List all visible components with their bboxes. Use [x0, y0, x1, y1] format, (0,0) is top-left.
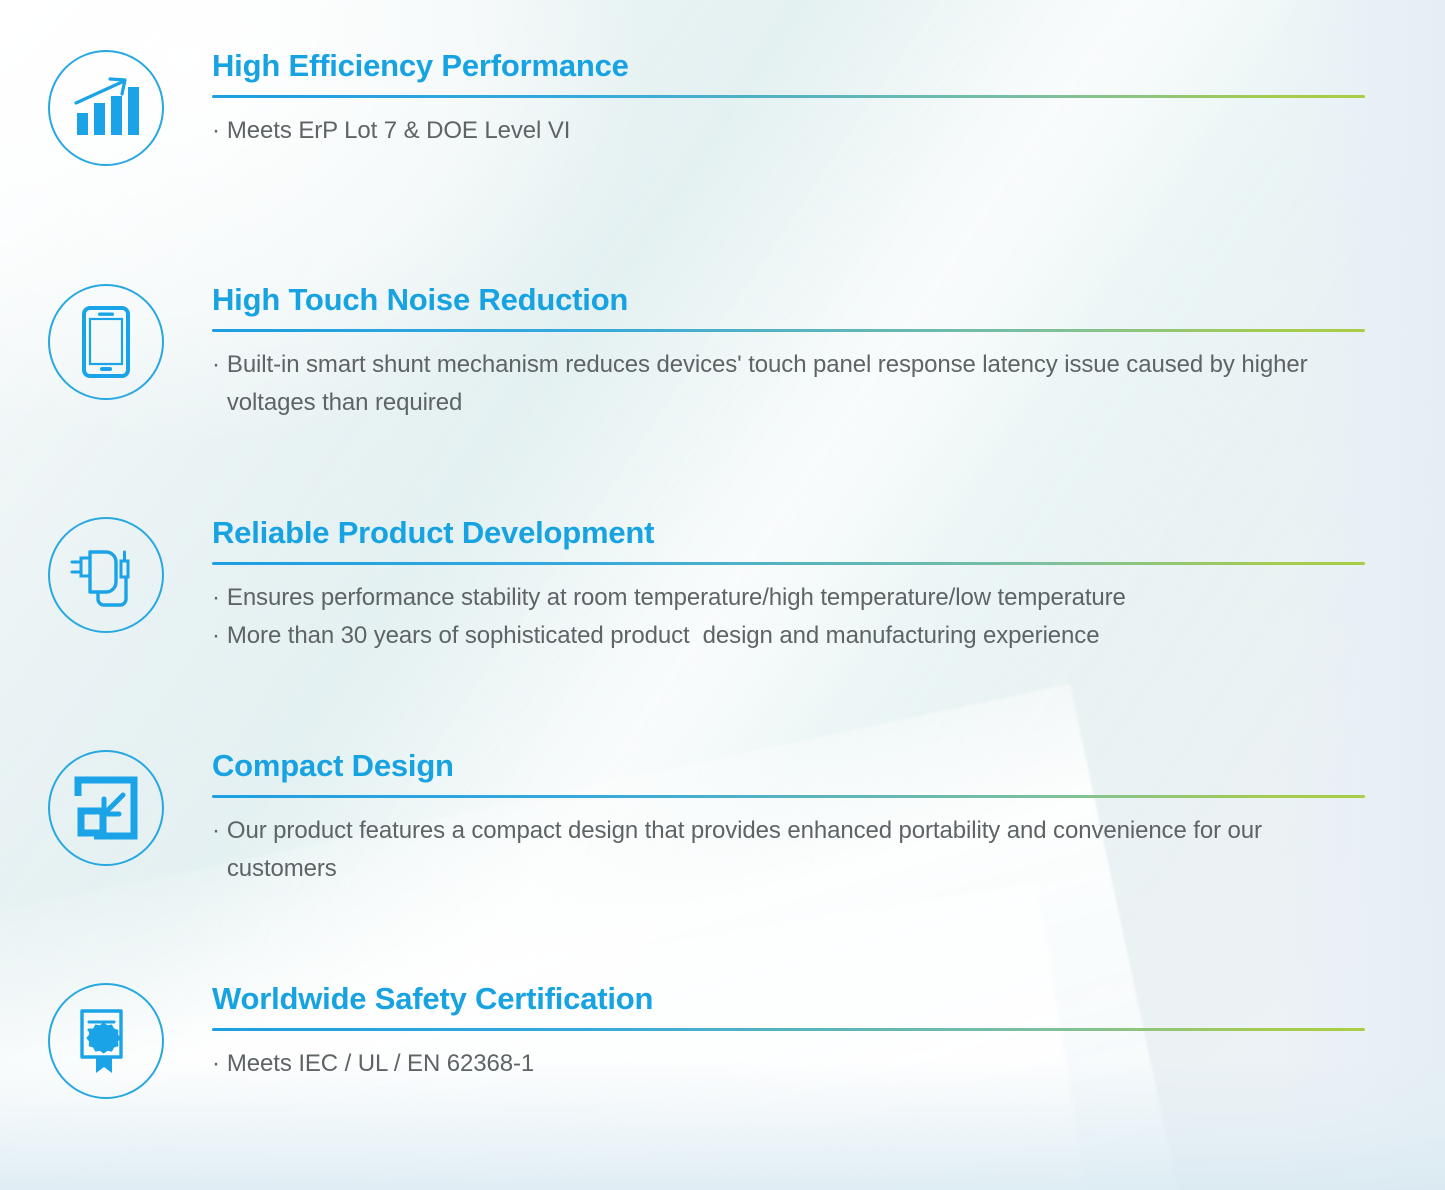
smartphone-icon	[82, 306, 130, 378]
feature-title: Reliable Product Development	[212, 517, 1365, 550]
bullet-text: Ensures performance stability at room te…	[227, 579, 1365, 617]
feature-item-worldwide-safety-certification: Worldwide Safety Certification · Meets I…	[0, 983, 1445, 1099]
feature-title: High Touch Noise Reduction	[212, 284, 1365, 317]
list-item: · Built-in smart shunt mechanism reduces…	[212, 346, 1365, 423]
bullet-marker: ·	[212, 617, 220, 655]
feature-bullets: · Ensures performance stability at room …	[212, 579, 1365, 656]
icon-circle	[48, 983, 164, 1099]
feature-icon-container	[0, 983, 212, 1099]
certificate-badge-icon	[74, 1007, 138, 1075]
list-item: · Ensures performance stability at room …	[212, 579, 1365, 617]
bullet-text: Our product features a compact design th…	[227, 812, 1365, 889]
icon-circle	[48, 50, 164, 166]
feature-icon-container	[0, 284, 212, 400]
feature-icon-container	[0, 517, 212, 633]
bullet-text: Built-in smart shunt mechanism reduces d…	[227, 346, 1365, 423]
list-item: · Our product features a compact design …	[212, 812, 1365, 889]
icon-circle	[48, 284, 164, 400]
feature-item-high-touch-noise-reduction: High Touch Noise Reduction · Built-in sm…	[0, 284, 1445, 422]
bullet-marker: ·	[212, 579, 220, 617]
feature-divider	[212, 95, 1365, 98]
feature-item-high-efficiency-performance: High Efficiency Performance · Meets ErP …	[0, 50, 1445, 166]
list-item: · More than 30 years of sophisticated pr…	[212, 617, 1365, 655]
feature-divider	[212, 562, 1365, 565]
feature-list-page: High Efficiency Performance · Meets ErP …	[0, 0, 1445, 1190]
list-item: · Meets ErP Lot 7 & DOE Level VI	[212, 112, 1365, 150]
feature-divider	[212, 1028, 1365, 1031]
bullet-text: Meets ErP Lot 7 & DOE Level VI	[227, 112, 1365, 150]
compact-resize-icon	[73, 775, 139, 841]
bullet-marker: ·	[212, 812, 220, 850]
bar-chart-growth-icon	[72, 75, 140, 141]
icon-circle	[48, 517, 164, 633]
bullet-text: More than 30 years of sophisticated prod…	[227, 617, 1365, 655]
feature-title: High Efficiency Performance	[212, 50, 1365, 83]
feature-text-column: Worldwide Safety Certification · Meets I…	[212, 983, 1445, 1083]
list-item: · Meets IEC / UL / EN 62368-1	[212, 1045, 1365, 1083]
bullet-marker: ·	[212, 346, 220, 384]
feature-icon-container	[0, 50, 212, 166]
feature-divider	[212, 795, 1365, 798]
feature-bullets: · Meets IEC / UL / EN 62368-1	[212, 1045, 1365, 1083]
feature-icon-container	[0, 750, 212, 866]
feature-list: High Efficiency Performance · Meets ErP …	[0, 0, 1445, 1190]
feature-title: Compact Design	[212, 750, 1365, 783]
bullet-marker: ·	[212, 1045, 220, 1083]
feature-text-column: Reliable Product Development · Ensures p…	[212, 517, 1445, 655]
feature-bullets: · Our product features a compact design …	[212, 812, 1365, 889]
icon-circle	[48, 750, 164, 866]
feature-bullets: · Meets ErP Lot 7 & DOE Level VI	[212, 112, 1365, 150]
feature-text-column: Compact Design · Our product features a …	[212, 750, 1445, 888]
feature-divider	[212, 329, 1365, 332]
feature-item-reliable-product-development: Reliable Product Development · Ensures p…	[0, 517, 1445, 655]
feature-text-column: High Touch Noise Reduction · Built-in sm…	[212, 284, 1445, 422]
feature-title: Worldwide Safety Certification	[212, 983, 1365, 1016]
feature-bullets: · Built-in smart shunt mechanism reduces…	[212, 346, 1365, 423]
feature-text-column: High Efficiency Performance · Meets ErP …	[212, 50, 1445, 150]
feature-item-compact-design: Compact Design · Our product features a …	[0, 750, 1445, 888]
bullet-marker: ·	[212, 112, 220, 150]
bullet-text: Meets IEC / UL / EN 62368-1	[227, 1045, 1365, 1083]
power-adapter-icon	[68, 541, 144, 609]
